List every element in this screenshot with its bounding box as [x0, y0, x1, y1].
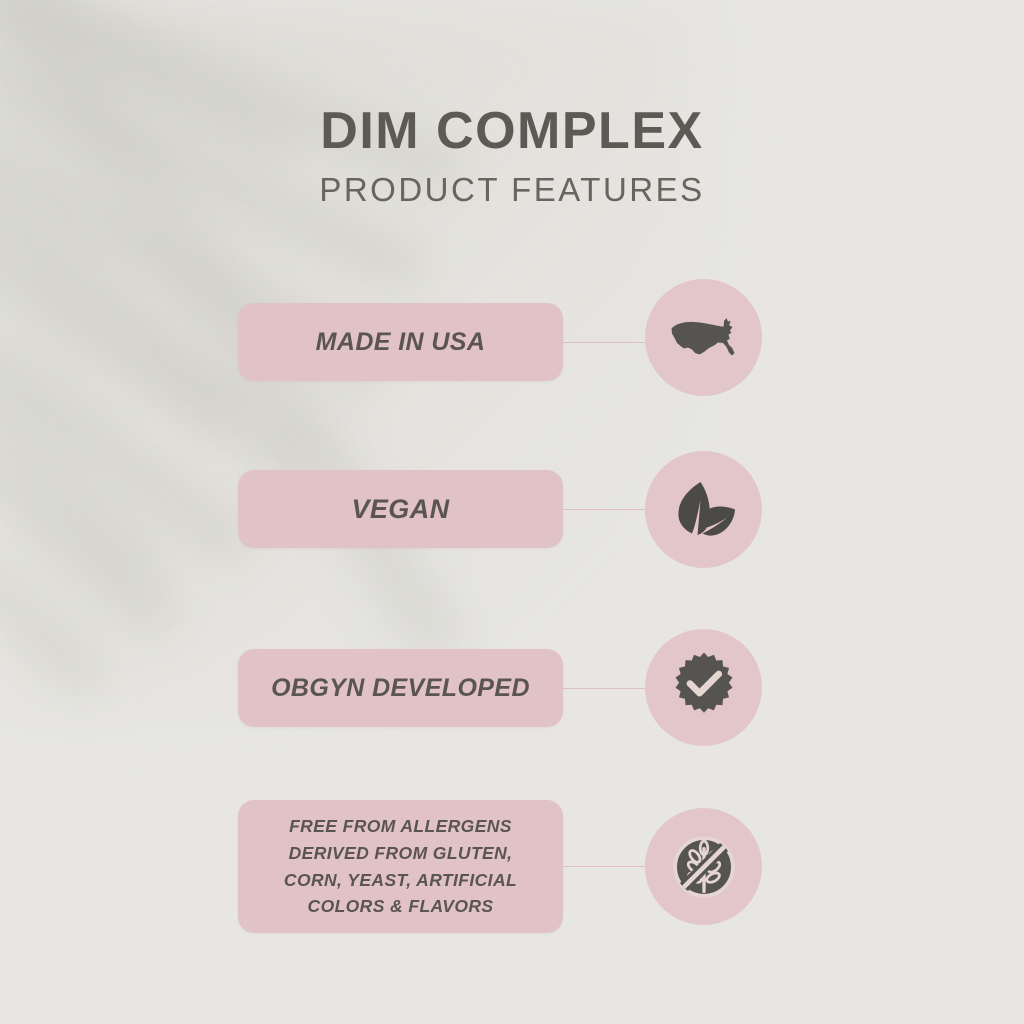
- connector-line-3: [560, 688, 650, 689]
- feature-pill-made-in-usa[interactable]: MADE IN USA: [238, 303, 563, 381]
- feature-label-made-in-usa: MADE IN USA: [316, 328, 486, 357]
- connector-line-4: [560, 866, 650, 867]
- feature-label-allergen-free-line-2: DERIVED FROM GLUTEN,: [289, 840, 513, 867]
- no-gluten-icon: [666, 829, 742, 905]
- feature-pill-allergen-free[interactable]: FREE FROM ALLERGENS DERIVED FROM GLUTEN,…: [238, 800, 563, 933]
- check-badge-icon: [667, 651, 741, 725]
- feature-pill-vegan[interactable]: VEGAN: [238, 470, 563, 548]
- connector-line-1: [560, 342, 650, 343]
- feature-label-allergen-free-line-1: FREE FROM ALLERGENS: [289, 813, 512, 840]
- usa-map-icon: [668, 312, 740, 364]
- connector-line-2: [560, 509, 650, 510]
- feature-pill-obgyn-developed[interactable]: OBGYN DEVELOPED: [238, 649, 563, 727]
- feature-label-vegan: VEGAN: [351, 494, 449, 525]
- feature-icon-circle-obgyn-developed[interactable]: [645, 629, 762, 746]
- page-title: DIM COMPLEX: [0, 104, 1024, 159]
- leaves-icon: [670, 479, 738, 541]
- feature-label-allergen-free-line-4: COLORS & FLAVORS: [308, 893, 494, 920]
- feature-icon-circle-made-in-usa[interactable]: [645, 279, 762, 396]
- header: DIM COMPLEX PRODUCT FEATURES: [0, 104, 1024, 209]
- feature-label-obgyn-developed: OBGYN DEVELOPED: [271, 674, 530, 703]
- feature-icon-circle-allergen-free[interactable]: [645, 808, 762, 925]
- page-subtitle: PRODUCT FEATURES: [0, 171, 1024, 209]
- feature-label-allergen-free-line-3: CORN, YEAST, ARTIFICIAL: [284, 867, 517, 894]
- feature-icon-circle-vegan[interactable]: [645, 451, 762, 568]
